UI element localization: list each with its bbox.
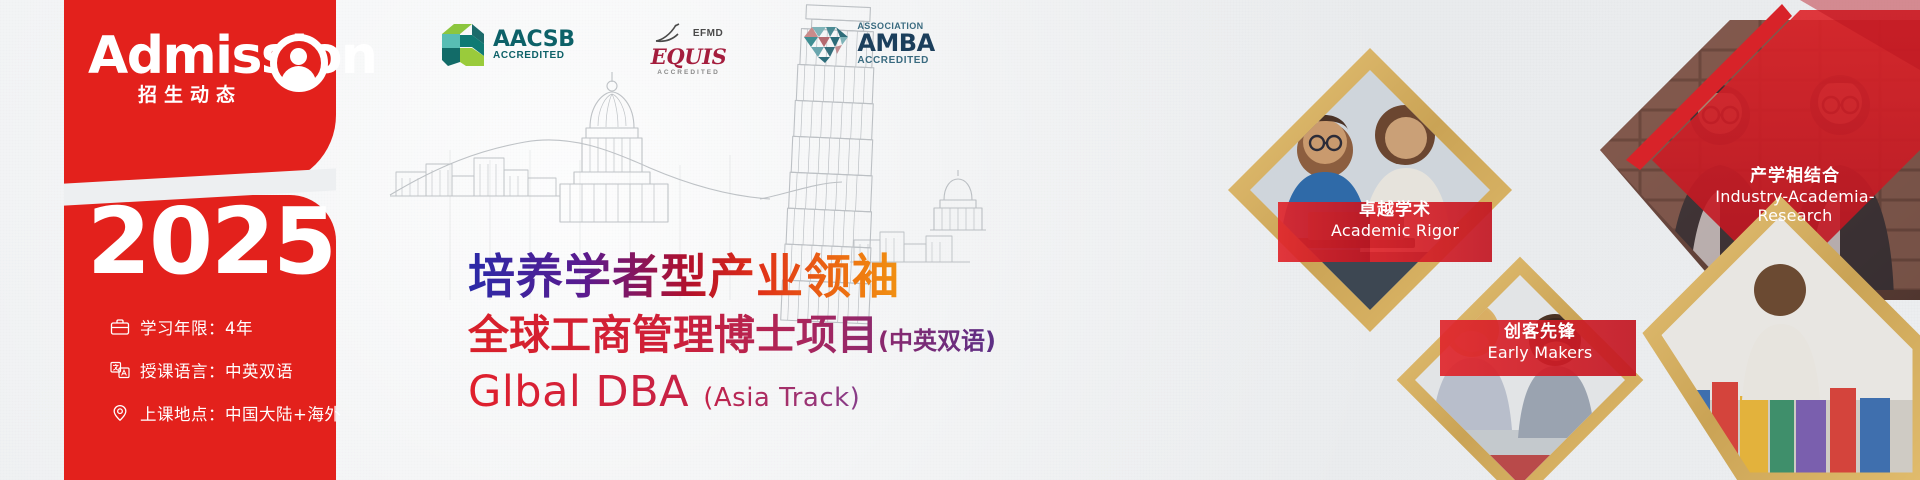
location-pin-icon [110,403,130,423]
info-row-language: 授课语言：中英双语 [110,358,340,382]
amba-sub: ACCREDITED [857,56,934,66]
amba-diamond-icon [802,23,850,65]
info-text-duration: 学习年限：4年 [140,315,253,339]
equis-name: EQUIS [651,44,727,69]
equis-logo: EFMD EQUIS ACCREDITED [651,22,727,76]
info-row-location: 上课地点：中国大陆+海外 [110,401,340,425]
program-en-track: (Asia Track) [703,383,860,413]
equis-sub: ACCREDITED [651,69,727,76]
program-name-paren: (中英双语) [878,327,996,355]
aacsb-sub: ACCREDITED [493,51,575,62]
efmd-swoosh-icon [654,22,688,44]
accreditation-logos: AACSB ACCREDITED EFMD EQUIS ACCREDITED [440,22,935,76]
briefcase-icon [110,317,130,337]
program-info-list: 学习年限：4年 授课语言：中英双语 上课地点：中国 [110,315,340,444]
admission-logo-chinese: 招生动态 [138,80,242,107]
amba-logo: ASSOCIATION AMBA ACCREDITED [802,22,934,66]
aacsb-cube-icon [440,22,486,68]
year-label: 2025 [86,196,336,288]
photo-collage: 卓越学术 Academic Rigor 产学相结合 Industry-Acade… [1040,0,1920,480]
efmd-label: EFMD [693,28,723,39]
amba-name: AMBA [857,31,934,55]
aacsb-name: AACSB [493,28,575,51]
program-en-main: Glbal DBA [468,367,689,417]
headline-program-name: 全球工商管理博士项目(中英双语) [468,313,996,359]
admission-logo: Admission 招生动态 [88,30,348,150]
promo-banner: Admission 招生动态 2025 学习年限：4年 [0,0,1920,480]
person-head-shape [290,48,307,65]
aacsb-logo: AACSB ACCREDITED [440,22,575,68]
collage-artwork [1040,0,1920,480]
headline-block: 培养学者型产业领袖 全球工商管理博士项目(中英双语) Glbal DBA (As… [468,252,996,416]
info-text-language: 授课语言：中英双语 [140,358,293,382]
program-name-main: 全球工商管理博士项目 [468,311,878,359]
translate-icon [110,360,130,380]
headline-tagline: 培养学者型产业领袖 [468,252,996,305]
headline-program-en: Glbal DBA (Asia Track) [468,369,996,416]
info-text-location: 上课地点：中国大陆+海外 [140,401,341,425]
info-row-duration: 学习年限：4年 [110,315,340,339]
